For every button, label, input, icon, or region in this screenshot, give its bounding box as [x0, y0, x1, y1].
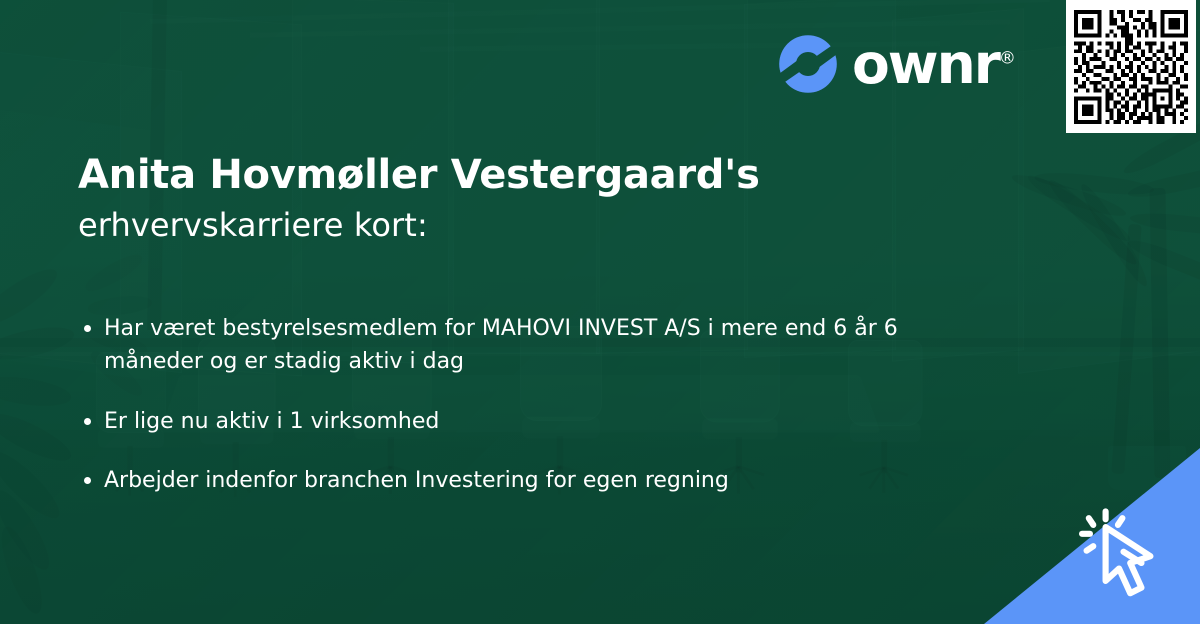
title-line-2: erhvervskarriere kort:: [78, 205, 978, 247]
list-item: Er lige nu aktiv i 1 virksomhed: [80, 405, 940, 438]
brand-logo[interactable]: ownr®: [778, 34, 1016, 94]
career-card: ownr®: [0, 0, 1200, 624]
qr-code-panel[interactable]: [1066, 0, 1196, 133]
list-item-label: Er lige nu aktiv i 1 virksomhed: [104, 409, 439, 434]
qr-code-icon: [1074, 10, 1188, 124]
list-item-label: Arbejder indenfor branchen Investering f…: [104, 468, 729, 493]
ownr-circle-swoosh-icon: [778, 34, 838, 94]
bullet-dot-icon: [84, 477, 91, 484]
title-line-1: Anita Hovmøller Vestergaard's: [78, 152, 978, 199]
list-item-label: Har været bestyrelsesmedlem for MAHOVI I…: [104, 316, 898, 374]
card-content: ownr®: [0, 0, 1200, 624]
list-item: Arbejder indenfor branchen Investering f…: [80, 464, 940, 497]
career-facts-list: Har været bestyrelsesmedlem for MAHOVI I…: [80, 312, 940, 498]
brand-wordmark-text: ownr: [852, 32, 999, 96]
page-title: Anita Hovmøller Vestergaard's erhvervska…: [78, 152, 978, 247]
corner-accent: [984, 448, 1200, 624]
list-item: Har været bestyrelsesmedlem for MAHOVI I…: [80, 312, 940, 379]
brand-wordmark: ownr®: [852, 37, 1016, 92]
bullet-dot-icon: [84, 325, 91, 332]
registered-mark: ®: [999, 48, 1016, 68]
bullet-dot-icon: [84, 418, 91, 425]
mouse-click-cursor-icon: [1072, 498, 1184, 610]
